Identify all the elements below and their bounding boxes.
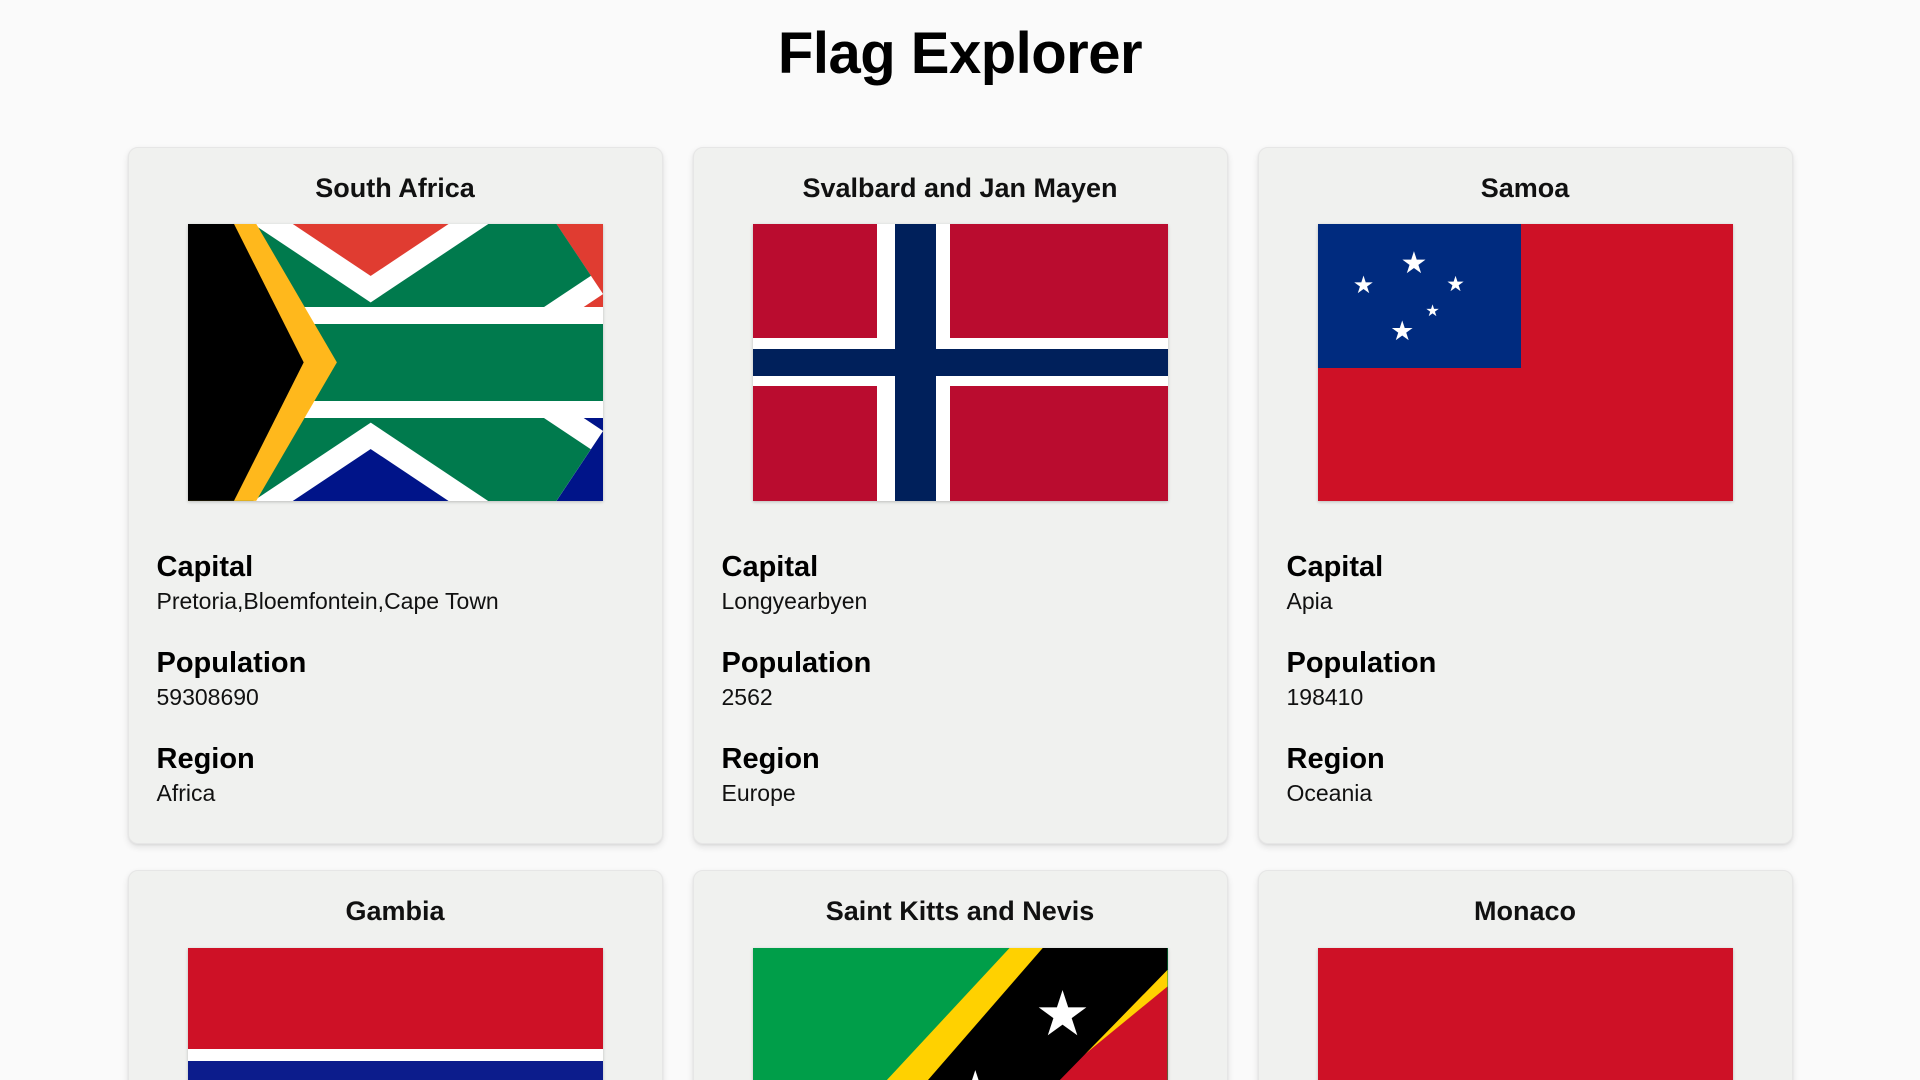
capital-value: Pretoria,Bloemfontein,Cape Town (157, 587, 634, 617)
flag-svalbard-and-jan-mayen-icon (753, 224, 1168, 501)
country-name: Samoa (1287, 172, 1764, 204)
country-card[interactable]: Monaco Capital Population Region (1258, 870, 1793, 1080)
country-card[interactable]: Gambia Capital Population Region (128, 870, 663, 1080)
capital-field: Capital Apia (1287, 549, 1764, 617)
region-field: Region Europe (722, 741, 1199, 809)
capital-label: Capital (1287, 549, 1764, 585)
country-card[interactable]: Svalbard and Jan Mayen Capital Longyearb… (693, 147, 1228, 845)
population-label: Population (722, 645, 1199, 681)
flag-gambia-icon (188, 948, 603, 1080)
flag-monaco-icon (1318, 948, 1733, 1080)
country-card-grid: South Africa Capital Pretoria,Bloem (0, 147, 1920, 1080)
flag-container: ★ ★ (722, 948, 1199, 1080)
capital-value: Apia (1287, 587, 1764, 617)
flag-container (1287, 948, 1764, 1080)
country-card[interactable]: Samoa ★ ★ ★ ★ ★ Capital Apia Population … (1258, 147, 1793, 845)
region-field: Region Oceania (1287, 741, 1764, 809)
flag-container: ★ ★ ★ ★ ★ (1287, 224, 1764, 501)
country-name: Monaco (1287, 895, 1764, 927)
flag-saint-kitts-and-nevis-icon: ★ ★ (753, 948, 1168, 1080)
population-value: 59308690 (157, 683, 634, 713)
country-name: Saint Kitts and Nevis (722, 895, 1199, 927)
flag-container (157, 948, 634, 1080)
flag-explorer-page: Flag Explorer South Africa (0, 0, 1920, 1080)
population-field: Population 59308690 (157, 645, 634, 713)
population-label: Population (1287, 645, 1764, 681)
capital-value: Longyearbyen (722, 587, 1199, 617)
flag-container (157, 224, 634, 501)
population-label: Population (157, 645, 634, 681)
region-value: Africa (157, 779, 634, 809)
region-label: Region (157, 741, 634, 777)
region-value: Europe (722, 779, 1199, 809)
region-field: Region Africa (157, 741, 634, 809)
flag-samoa-icon: ★ ★ ★ ★ ★ (1318, 224, 1733, 501)
country-card[interactable]: South Africa Capital Pretoria,Bloem (128, 147, 663, 845)
population-value: 198410 (1287, 683, 1764, 713)
country-name: Gambia (157, 895, 634, 927)
country-name: Svalbard and Jan Mayen (722, 172, 1199, 204)
region-label: Region (722, 741, 1199, 777)
population-field: Population 198410 (1287, 645, 1764, 713)
flag-container (722, 224, 1199, 501)
region-value: Oceania (1287, 779, 1764, 809)
page-title: Flag Explorer (0, 18, 1920, 91)
flag-south-africa-icon (188, 224, 603, 501)
region-label: Region (1287, 741, 1764, 777)
population-value: 2562 (722, 683, 1199, 713)
country-card[interactable]: Saint Kitts and Nevis ★ ★ Capital Popula… (693, 870, 1228, 1080)
country-name: South Africa (157, 172, 634, 204)
population-field: Population 2562 (722, 645, 1199, 713)
capital-field: Capital Longyearbyen (722, 549, 1199, 617)
capital-label: Capital (157, 549, 634, 585)
capital-label: Capital (722, 549, 1199, 585)
capital-field: Capital Pretoria,Bloemfontein,Cape Town (157, 549, 634, 617)
